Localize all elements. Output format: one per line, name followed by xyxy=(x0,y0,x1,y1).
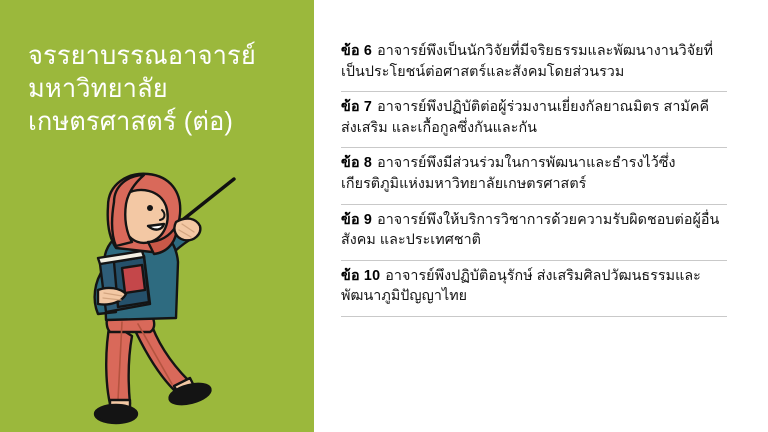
list-item-text: ข้อ 10อาจารย์พึงปฏิบัติอนุรักษ์ ส่งเสริม… xyxy=(341,266,727,307)
list-item-text: ข้อ 9อาจารย์พึงให้บริการวิชาการด้วยความร… xyxy=(341,210,727,251)
page-title-line-3: เกษตรศาสตร์ (ต่อ) xyxy=(28,106,300,139)
list-item-text: ข้อ 8อาจารย์พึงมีส่วนร่วมในการพัฒนาและธำ… xyxy=(341,153,727,194)
left-title-panel: จรรยาบรรณอาจารย์ มหาวิทยาลัย เกษตรศาสตร์… xyxy=(0,0,314,432)
list-item-number: ข้อ 7 xyxy=(341,99,372,115)
list-item-body: อาจารย์พึงปฏิบัติต่อผู้ร่วมงานเยี่ยงกัลย… xyxy=(341,99,709,136)
slide-root: จรรยาบรรณอาจารย์ มหาวิทยาลัย เกษตรศาสตร์… xyxy=(0,0,768,432)
list-item-number: ข้อ 8 xyxy=(341,155,372,171)
page-title-line-1: จรรยาบรรณอาจารย์ xyxy=(28,40,300,73)
list-item-text: ข้อ 6อาจารย์พึงเป็นนักวิจัยที่มีจริยธรรม… xyxy=(341,41,727,82)
list-item-number: ข้อ 10 xyxy=(341,268,380,284)
list-item: ข้อ 7อาจารย์พึงปฏิบัติต่อผู้ร่วมงานเยี่ย… xyxy=(341,92,727,148)
list-item: ข้อ 9อาจารย์พึงให้บริการวิชาการด้วยความร… xyxy=(341,205,727,261)
right-content-panel: ข้อ 6อาจารย์พึงเป็นนักวิจัยที่มีจริยธรรม… xyxy=(314,0,768,432)
list-item-body: อาจารย์พึงให้บริการวิชาการด้วยความรับผิด… xyxy=(341,212,719,249)
list-item: ข้อ 6อาจารย์พึงเป็นนักวิจัยที่มีจริยธรรม… xyxy=(341,38,727,92)
list-item: ข้อ 10อาจารย์พึงปฏิบัติอนุรักษ์ ส่งเสริม… xyxy=(341,261,727,317)
teacher-with-pointer-illustration xyxy=(52,172,302,432)
list-item-number: ข้อ 6 xyxy=(341,43,372,59)
list-item-text: ข้อ 7อาจารย์พึงปฏิบัติต่อผู้ร่วมงานเยี่ย… xyxy=(341,97,727,138)
page-title-line-2: มหาวิทยาลัย xyxy=(28,73,300,106)
ethics-item-list: ข้อ 6อาจารย์พึงเป็นนักวิจัยที่มีจริยธรรม… xyxy=(341,38,727,317)
list-item-body: อาจารย์พึงปฏิบัติอนุรักษ์ ส่งเสริมศิลปวั… xyxy=(341,268,701,305)
list-item-body: อาจารย์พึงเป็นนักวิจัยที่มีจริยธรรมและพั… xyxy=(341,43,713,80)
list-item: ข้อ 8อาจารย์พึงมีส่วนร่วมในการพัฒนาและธำ… xyxy=(341,148,727,204)
page-title: จรรยาบรรณอาจารย์ มหาวิทยาลัย เกษตรศาสตร์… xyxy=(28,40,300,139)
list-item-number: ข้อ 9 xyxy=(341,212,372,228)
list-item-body: อาจารย์พึงมีส่วนร่วมในการพัฒนาและธำรงไว้… xyxy=(341,155,676,192)
